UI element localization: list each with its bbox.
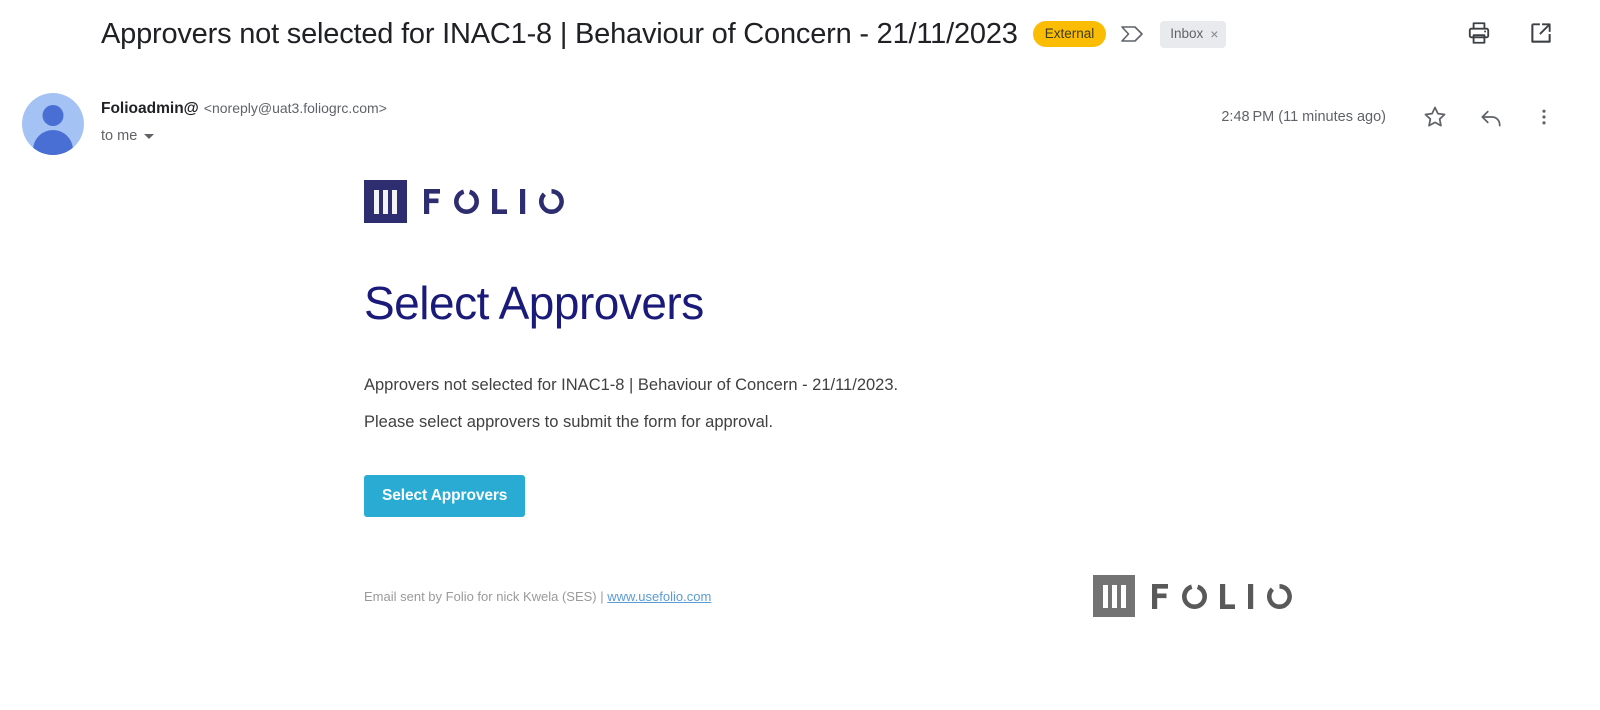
header-actions <box>1466 20 1554 46</box>
tag-arrow-icon <box>1120 24 1146 44</box>
chevron-down-icon[interactable] <box>144 134 154 139</box>
email-header: Approvers not selected for INAC1-8 | Beh… <box>0 0 1600 72</box>
folio-letter-f <box>424 189 441 214</box>
open-in-new-window-icon[interactable] <box>1528 20 1554 46</box>
folio-letter-l <box>492 189 507 214</box>
sender-name: Folioadmin@ <box>101 100 199 117</box>
timestamp: 2:48 PM (11 minutes ago) <box>1221 109 1386 125</box>
close-icon[interactable]: × <box>1210 27 1218 41</box>
email-body: Select Approvers Approvers not selected … <box>364 180 1564 617</box>
folio-letter-o-2 <box>1267 584 1292 609</box>
sender-line: Folioadmin@<noreply@uat3.foliogrc.com> <box>101 100 387 118</box>
recipient-label: to me <box>101 128 137 144</box>
avatar[interactable] <box>22 93 84 155</box>
page-title: Approvers not selected for INAC1-8 | Beh… <box>101 14 1018 54</box>
folio-letter-i <box>520 189 526 214</box>
folio-mark-icon <box>364 180 407 223</box>
star-icon[interactable] <box>1422 104 1448 130</box>
folio-letter-o-1 <box>1182 584 1207 609</box>
usefolio-link[interactable]: www.usefolio.com <box>607 589 711 604</box>
sender-meta: Folioadmin@<noreply@uat3.foliogrc.com> t… <box>101 100 387 144</box>
footer-note: Email sent by Folio for nick Kwela (SES)… <box>364 589 711 604</box>
sender-email: <noreply@uat3.foliogrc.com> <box>204 100 387 116</box>
select-approvers-button[interactable]: Select Approvers <box>364 475 525 518</box>
folio-wordmark <box>424 189 564 214</box>
folio-letter-i <box>1248 584 1254 609</box>
recipient-toggle[interactable]: to me <box>101 128 387 144</box>
folio-mark-icon <box>1093 575 1135 617</box>
subject-line: Approvers not selected for INAC1-8 | Beh… <box>101 14 1226 54</box>
avatar-person-icon-body <box>33 130 73 155</box>
label-chip-inbox-text: Inbox <box>1170 27 1203 41</box>
message-paragraph-1: Approvers not selected for INAC1-8 | Beh… <box>364 377 1564 394</box>
message-headline: Select Approvers <box>364 278 1564 329</box>
sender-row: Folioadmin@<noreply@uat3.foliogrc.com> t… <box>0 90 1600 160</box>
folio-logo <box>364 180 1564 223</box>
message-actions: 2:48 PM (11 minutes ago) <box>1221 104 1554 130</box>
message-paragraph-2: Please select approvers to submit the fo… <box>364 414 1564 431</box>
avatar-person-icon-head <box>43 105 64 126</box>
reply-icon[interactable] <box>1478 104 1504 130</box>
more-vertical-icon[interactable] <box>1534 104 1554 130</box>
folio-letter-o-1 <box>454 189 479 214</box>
status-badge-external: External <box>1033 21 1107 48</box>
folio-letter-o-2 <box>539 189 564 214</box>
folio-logo-footer <box>1093 575 1292 617</box>
folio-wordmark-footer <box>1152 584 1292 609</box>
email-footer: Email sent by Folio for nick Kwela (SES)… <box>364 575 1292 617</box>
folio-letter-l <box>1220 584 1235 609</box>
label-chip-inbox[interactable]: Inbox × <box>1160 21 1226 48</box>
footer-note-text: Email sent by Folio for nick Kwela (SES)… <box>364 589 607 604</box>
folio-letter-f <box>1152 584 1169 609</box>
print-icon[interactable] <box>1466 20 1492 46</box>
